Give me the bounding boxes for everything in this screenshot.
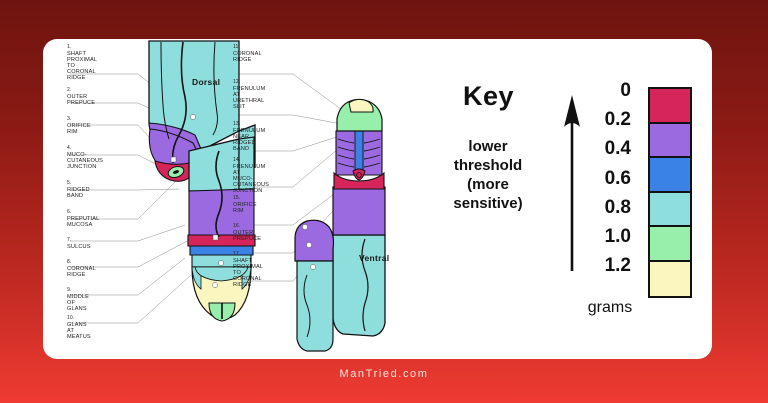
footer-watermark: ManTried.com: [0, 368, 768, 380]
key-tick-3: 0.6: [575, 169, 631, 198]
label-13: 13.FRENULUM NEAR RIDGED BAND: [233, 122, 265, 152]
key-tick-labels: 0 0.2 0.4 0.6 0.8 1.0 1.2: [575, 81, 631, 285]
key-tick-4: 0.8: [575, 198, 631, 227]
key-caption-line-2: threshold: [421, 156, 555, 175]
view-label-ventral: Ventral: [359, 253, 389, 263]
key-tick-1: 0.2: [575, 110, 631, 139]
label-15: 15.ORIFICE RIM: [233, 196, 257, 214]
view-label-dorsal: Dorsal: [192, 77, 220, 87]
label-11: 11.CORONAL RIDGE: [233, 45, 262, 63]
label-16: 16.OUTER PREPUCE: [233, 224, 261, 242]
swatch-0: [650, 89, 690, 124]
key-caption-line-4: sensitive): [421, 194, 555, 213]
label-12: 12.FRENULUM AT URETHRAL SLIT: [233, 80, 265, 110]
diagram-card: 1.SHAFT PROXIMAL TO CORONAL RIDGE 2.OUTE…: [43, 39, 712, 359]
swatch-5: [650, 262, 690, 297]
label-2: 2.OUTER PREPUCE: [67, 88, 95, 106]
swatch-2: [650, 158, 690, 193]
swatch-4: [650, 227, 690, 262]
key-tick-6: 1.2: [575, 256, 631, 285]
poster-stage: 1.SHAFT PROXIMAL TO CORONAL RIDGE 2.OUTE…: [0, 0, 768, 403]
swatch-3: [650, 193, 690, 228]
key-title: Key: [463, 81, 514, 112]
key-legend: Key lower threshold (more sensitive) 0 0…: [403, 59, 703, 349]
key-color-swatches: [648, 87, 692, 298]
label-1: 1.SHAFT PROXIMAL TO CORONAL RIDGE: [67, 45, 97, 82]
label-14: 14.FRENULUM AT MUCO-CUTANEOUS JUNCTION: [233, 158, 269, 195]
label-7: 7.SULCUS: [67, 238, 91, 250]
label-3: 3.ORIFICE RIM: [67, 117, 91, 135]
key-tick-2: 0.4: [575, 139, 631, 168]
key-caption-line-3: (more: [421, 175, 555, 194]
key-tick-0: 0: [575, 81, 631, 110]
label-4: 4.MUCO- CUTANEOUS JUNCTION: [67, 146, 103, 170]
key-tick-5: 1.0: [575, 227, 631, 256]
key-caption-line-1: lower: [421, 137, 555, 156]
ventral-secondary-figure: [295, 220, 334, 351]
label-5: 5.RIDGED BAND: [67, 181, 90, 199]
swatch-1: [650, 124, 690, 159]
label-6: 6.PREPUTIAL MUCOSA: [67, 210, 99, 228]
key-units-label: grams: [575, 299, 645, 317]
label-17: 17.SHAFT PROXIMAL TO CORONAL RIDGE: [233, 252, 263, 289]
label-8: 8.CORONAL RIDGE: [67, 260, 96, 278]
key-caption: lower threshold (more sensitive): [421, 137, 555, 213]
label-9: 9.MIDDLE OF GLANS: [67, 288, 89, 312]
label-10: 10.GLANS AT MEATUS: [67, 316, 91, 340]
ventral-main-figure: [333, 99, 385, 336]
